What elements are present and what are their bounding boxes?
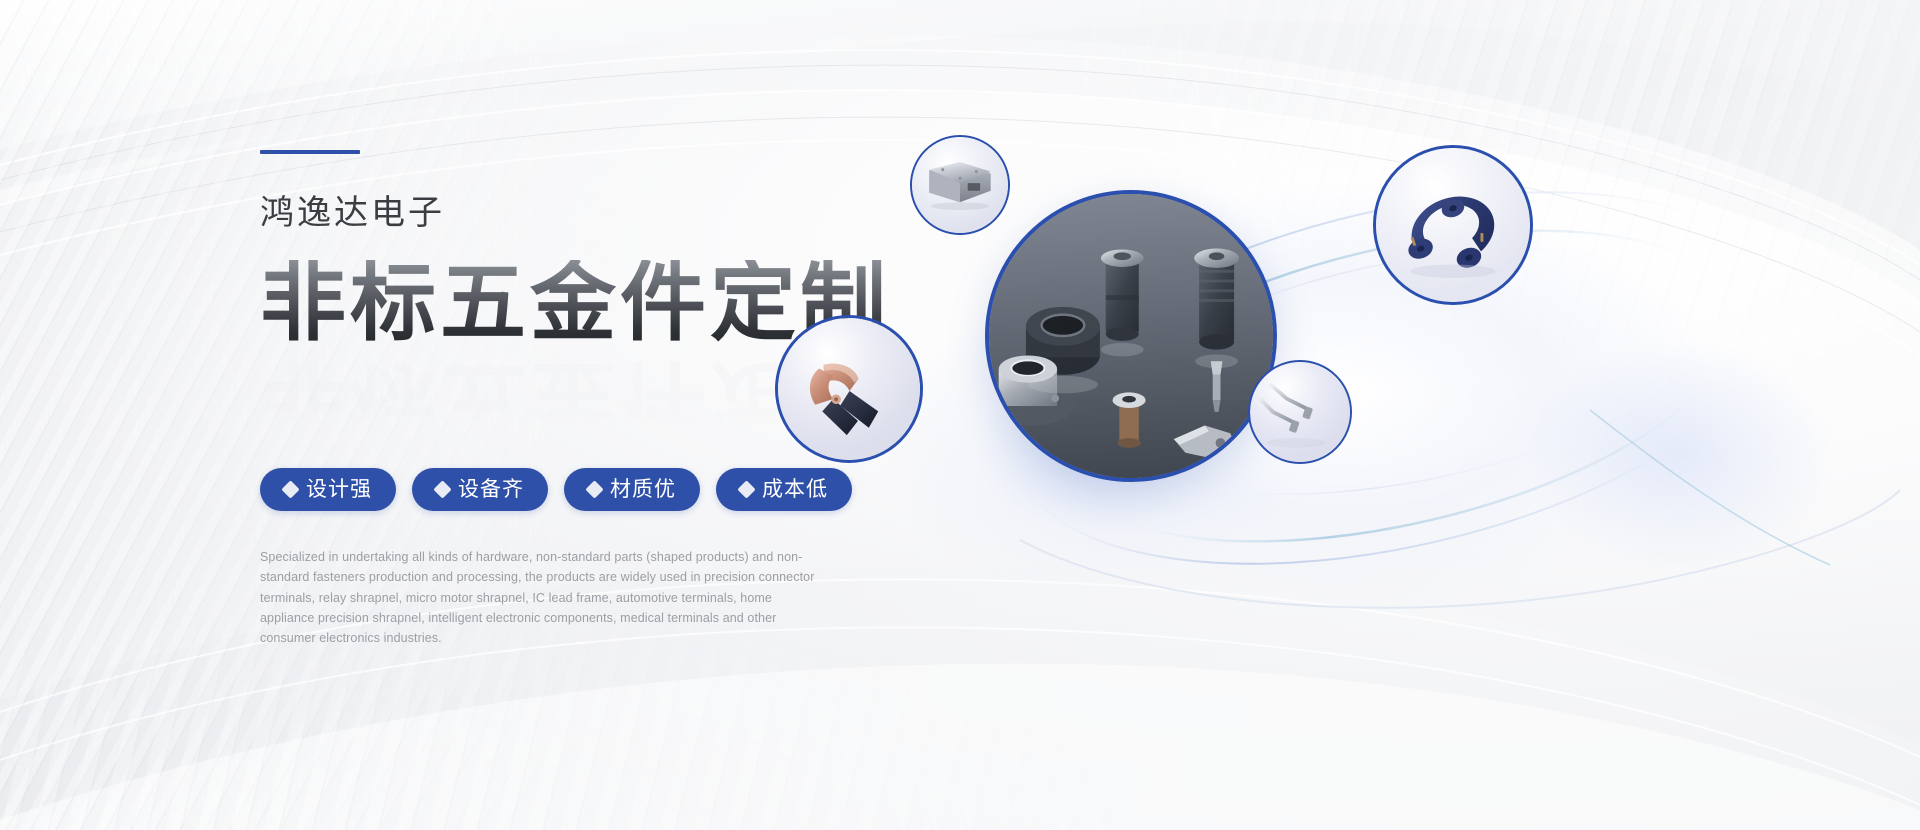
feature-pill-material[interactable]: 材质优	[564, 468, 700, 511]
diamond-icon	[737, 480, 755, 498]
copper-clamp-bubble[interactable]	[775, 315, 923, 463]
feature-pill-label: 材质优	[610, 479, 676, 500]
diamond-icon	[433, 480, 451, 498]
accent-bar	[260, 150, 360, 154]
bent-terminal-pins-image	[1250, 362, 1350, 462]
copper-clamp-image	[778, 318, 920, 460]
feature-pill-label: 设备齐	[458, 479, 524, 500]
feature-pill-equipment[interactable]: 设备齐	[412, 468, 548, 511]
feature-pill-label: 成本低	[762, 479, 828, 500]
diamond-icon	[281, 480, 299, 498]
snap-ring-bubble[interactable]	[1373, 145, 1533, 305]
hero-banner: 鸿逸达电子 非标五金件定制 非标五金件定制 设计强 设备齐 材质优 成本低	[0, 0, 1920, 830]
feature-pill-list: 设计强 设备齐 材质优 成本低	[260, 468, 960, 511]
connector-parts-image	[989, 194, 1273, 478]
feature-pill-design[interactable]: 设计强	[260, 468, 396, 511]
connector-parts-bubble[interactable]	[985, 190, 1277, 482]
bent-terminal-pins-bubble[interactable]	[1248, 360, 1352, 464]
brand-subtitle: 鸿逸达电子	[260, 196, 960, 230]
product-visual	[900, 110, 1910, 650]
feature-pill-cost[interactable]: 成本低	[716, 468, 852, 511]
feature-pill-label: 设计强	[306, 479, 372, 500]
snap-ring-image	[1376, 148, 1530, 302]
description-paragraph: Specialized in undertaking all kinds of …	[260, 547, 820, 648]
diamond-icon	[585, 480, 603, 498]
